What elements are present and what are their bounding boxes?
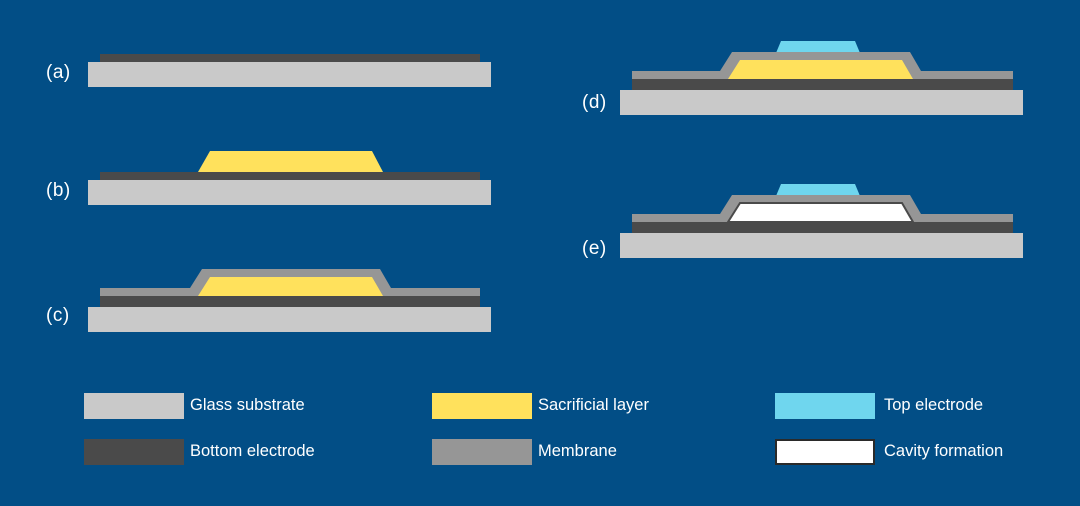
panel-d-top-electrode <box>776 41 860 53</box>
panel-c-sacrificial-layer <box>198 277 383 296</box>
panel-d-sacrificial-layer <box>728 60 913 79</box>
panel-d-glass-substrate <box>620 90 1023 115</box>
panel-label-c: (c) <box>46 305 70 327</box>
legend-swatch-bottom-electrode <box>84 439 184 465</box>
panel-b-glass-substrate <box>88 180 491 205</box>
panel-c-glass-substrate <box>88 307 491 332</box>
panel-label-d: (d) <box>582 92 607 114</box>
panel-label-a: (a) <box>46 62 71 84</box>
legend-label-membrane: Membrane <box>538 442 617 461</box>
cross-section-illustrations <box>0 0 1080 506</box>
panel-b-sacrificial-layer <box>198 151 383 172</box>
process-flow-diagram: (a) (b) (c) (d) (e) Glass substrate Bott… <box>0 0 1080 506</box>
panel-e-graphic <box>620 184 1023 258</box>
panel-label-b: (b) <box>46 180 71 202</box>
panel-label-e: (e) <box>582 238 607 260</box>
panel-a-glass-substrate <box>88 62 491 87</box>
legend-swatch-membrane <box>432 439 532 465</box>
legend-label-cavity-formation: Cavity formation <box>884 442 1003 461</box>
panel-b-bottom-electrode <box>100 172 480 181</box>
legend-swatch-cavity-formation <box>775 439 875 465</box>
panel-a-bottom-electrode <box>100 54 480 63</box>
panel-c-bottom-electrode <box>100 296 480 307</box>
legend-label-top-electrode: Top electrode <box>884 396 983 415</box>
panel-c-graphic <box>88 269 491 332</box>
panel-e-glass-substrate <box>620 233 1023 258</box>
panel-a-graphic <box>88 54 491 87</box>
panel-e-top-electrode <box>776 184 860 196</box>
legend-label-bottom-electrode: Bottom electrode <box>190 442 315 461</box>
legend-swatch-sacrificial-layer <box>432 393 532 419</box>
panel-e-bottom-electrode <box>632 222 1013 233</box>
legend-label-sacrificial-layer: Sacrificial layer <box>538 396 649 415</box>
panel-d-bottom-electrode <box>632 79 1013 90</box>
panel-b-graphic <box>88 151 491 205</box>
panel-d-graphic <box>620 41 1023 115</box>
legend-swatch-glass-substrate <box>84 393 184 419</box>
legend-swatch-top-electrode <box>775 393 875 419</box>
legend-label-glass-substrate: Glass substrate <box>190 396 305 415</box>
panel-e-cavity-formation <box>728 203 913 222</box>
